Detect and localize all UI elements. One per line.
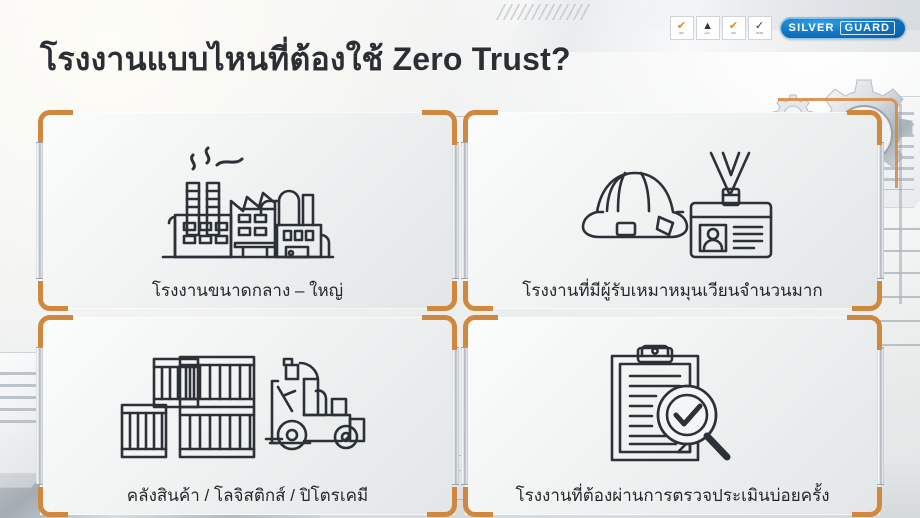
card-label: โรงงานขนาดกลาง – ใหญ่ bbox=[152, 280, 343, 301]
tis-badge: ▲ มอก. bbox=[696, 16, 720, 40]
check-mark-icon: ✓ bbox=[755, 21, 764, 32]
clipboard-magnifier-check-icon bbox=[608, 333, 738, 483]
silverguard-logo[interactable]: SILVER GUARD bbox=[780, 17, 906, 39]
card-rail-right bbox=[877, 142, 884, 279]
card-rail-right bbox=[452, 347, 459, 484]
top-stripes-decor bbox=[496, 4, 595, 20]
card-label: โรงงานที่มีผู้รับเหมาหมุนเวียนจำนวนมาก bbox=[522, 280, 822, 301]
circuit-trace bbox=[874, 344, 920, 346]
logo-text-guard: GUARD bbox=[840, 21, 895, 35]
check-circle-icon: ✔ bbox=[677, 21, 686, 32]
brand-bar: ✔ ISO ▲ มอก. ✔ ISO ✓ UKAS SILVER GUARD bbox=[670, 16, 906, 40]
card-label: โรงงานที่ต้องผ่านการตรวจประเมินบ่อยครั้ง bbox=[515, 485, 829, 506]
card-rail-right bbox=[877, 347, 884, 484]
iso-14001-badge: ✔ ISO bbox=[722, 16, 746, 40]
tuv-badge: ✓ UKAS bbox=[748, 16, 772, 40]
containers-forklift-icon bbox=[118, 333, 378, 483]
hardhat-id-badge-icon bbox=[573, 128, 773, 278]
certification-badges: ✔ ISO ▲ มอก. ✔ ISO ✓ UKAS bbox=[670, 16, 772, 40]
card-label: คลังสินค้า / โลจิสติกส์ / ปิโตรเคมี bbox=[127, 485, 368, 506]
card-many-rotating-contractors[interactable]: โรงงานที่มีผู้รับเหมาหมุนเวียนจำนวนมาก bbox=[465, 112, 880, 309]
factory-icon bbox=[153, 128, 343, 278]
card-warehouse-logistics-petrochemical[interactable]: คลังสินค้า / โลจิสติกส์ / ปิโตรเคมี bbox=[40, 317, 455, 514]
iso-9001-badge: ✔ ISO bbox=[670, 16, 694, 40]
card-rail-right bbox=[452, 142, 459, 279]
card-rail-left bbox=[461, 142, 468, 279]
card-rail-left bbox=[461, 347, 468, 484]
card-frequent-audits[interactable]: โรงงานที่ต้องผ่านการตรวจประเมินบ่อยครั้ง bbox=[465, 317, 880, 514]
card-medium-large-factory[interactable]: โรงงานขนาดกลาง – ใหญ่ bbox=[40, 112, 455, 309]
card-rail-left bbox=[36, 347, 43, 484]
page-title: โรงงานแบบไหนที่ต้องใช้ Zero Trust? bbox=[40, 34, 571, 85]
feature-card-grid: โรงงานขนาดกลาง – ใหญ่ bbox=[40, 112, 880, 470]
check-circle-icon: ✔ bbox=[729, 21, 738, 32]
triangle-icon: ▲ bbox=[702, 21, 713, 32]
slide-canvas: โรงงานแบบไหนที่ต้องใช้ Zero Trust? ✔ ISO… bbox=[0, 0, 920, 518]
logo-text-silver: SILVER bbox=[789, 22, 835, 34]
card-rail-left bbox=[36, 142, 43, 279]
